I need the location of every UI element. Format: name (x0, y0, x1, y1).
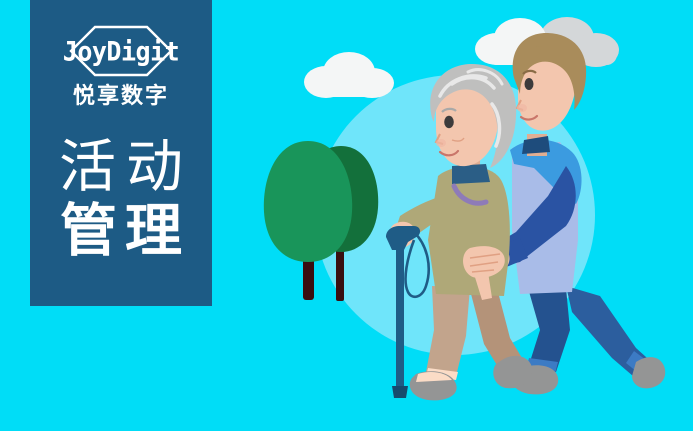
title-line-1: 活动 (49, 136, 193, 200)
man-eye (525, 78, 534, 90)
poster-canvas: JoyDigit 悦享数字 活动 管理 (0, 0, 693, 431)
woman-sweater (428, 166, 510, 296)
woman-eye (444, 116, 454, 128)
logo-chinese-name: 悦享数字 (73, 84, 169, 108)
woman-collar (452, 164, 490, 184)
logo-block: JoyDigit 悦享数字 (46, 26, 196, 108)
woman-cheek (436, 139, 446, 147)
cane-shaft (396, 244, 404, 392)
man-cheek (517, 104, 527, 112)
logo-mark: JoyDigit (46, 26, 196, 76)
cane-tip (392, 386, 408, 398)
title-line-2: 管理 (52, 200, 190, 264)
logo-wordmark: JoyDigit (63, 38, 179, 65)
page-title: 活动 管理 (30, 136, 212, 264)
brand-panel: JoyDigit 悦享数字 活动 管理 (30, 0, 212, 306)
